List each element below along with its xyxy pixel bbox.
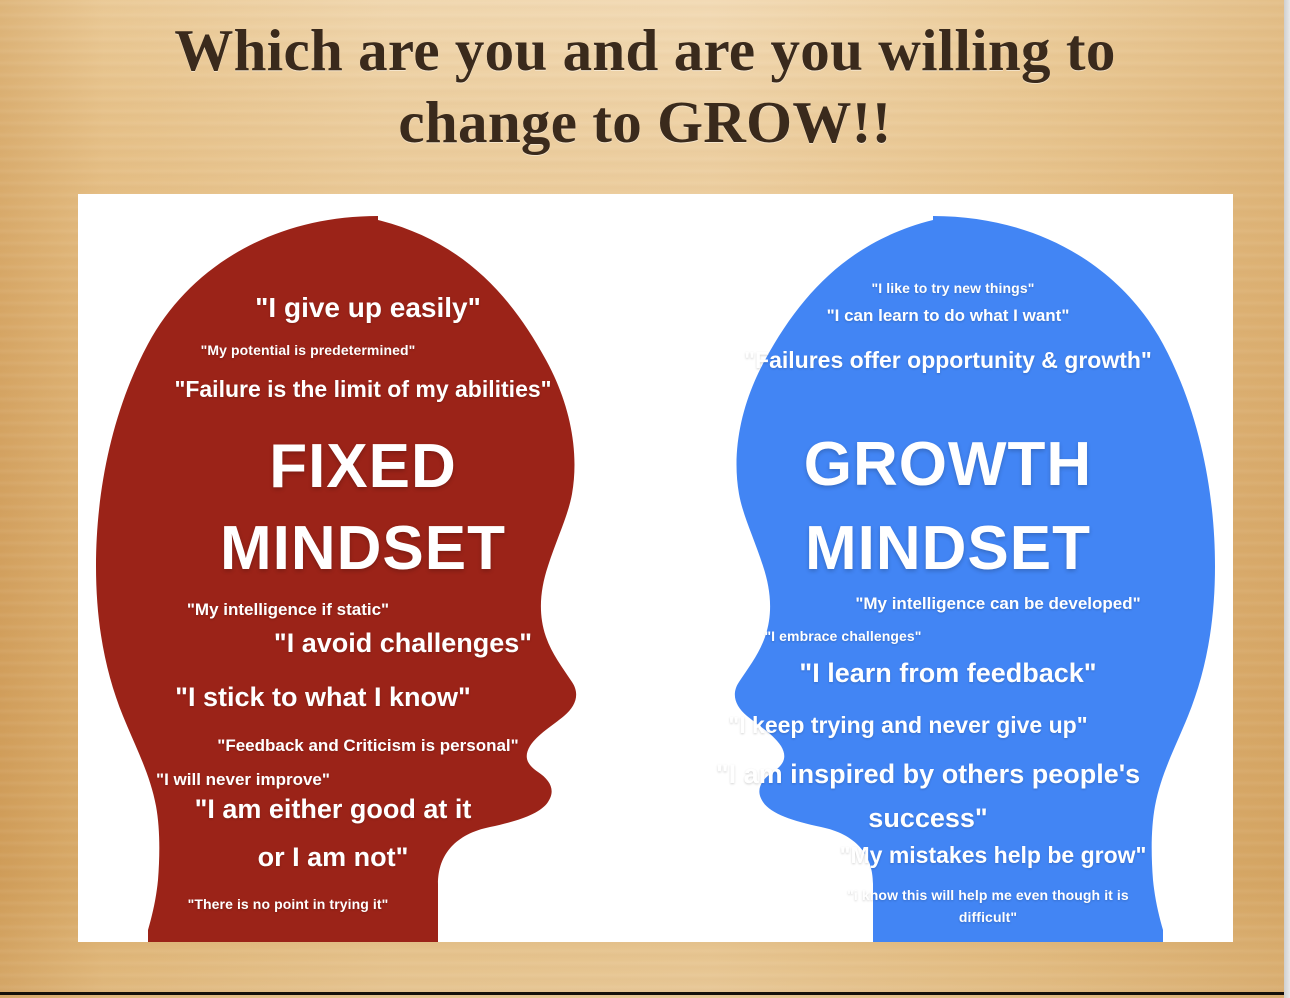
growth-quote-1: "I like to try new things" bbox=[763, 280, 1143, 296]
growth-heading-line-1: GROWTH bbox=[683, 422, 1213, 508]
growth-quote-8: "I am inspired by others people's succes… bbox=[703, 752, 1153, 840]
title-line-1: Which are you and are you willing to bbox=[0, 14, 1290, 86]
growth-heading-line-2: MINDSET bbox=[683, 506, 1213, 592]
fixed-heading-line-2: MINDSET bbox=[98, 506, 628, 592]
growth-quote-3: "Failures offer opportunity & growth" bbox=[703, 342, 1193, 378]
growth-quote-list: "I like to try new things" "I can learn … bbox=[653, 194, 1233, 942]
growth-quote-10: "i know this will help me even though it… bbox=[823, 884, 1153, 928]
growth-quote-5: "I embrace challenges" bbox=[683, 628, 1003, 644]
growth-quote-9: "My mistakes help be grow" bbox=[783, 842, 1203, 869]
growth-quote-7: "I keep trying and never give up" bbox=[683, 712, 1133, 739]
growth-mindset-head: "I like to try new things" "I can learn … bbox=[653, 194, 1233, 942]
fixed-quote-5: "I avoid challenges" bbox=[178, 628, 628, 659]
bottom-border-rule bbox=[0, 992, 1290, 995]
fixed-quote-list: "I give up easily" "My potential is pred… bbox=[78, 194, 658, 942]
fixed-heading-line-1: FIXED bbox=[98, 424, 628, 510]
fixed-quote-7: "Feedback and Criticism is personal" bbox=[128, 736, 608, 756]
growth-quote-6: "I learn from feedback" bbox=[723, 658, 1173, 689]
growth-quote-4: "My intelligence can be developed" bbox=[773, 594, 1223, 614]
fixed-quote-8: "I will never improve" bbox=[78, 770, 408, 790]
fixed-mindset-head: "I give up easily" "My potential is pred… bbox=[78, 194, 658, 942]
mindset-comparison-panel: "I give up easily" "My potential is pred… bbox=[78, 194, 1233, 942]
growth-quote-2: "I can learn to do what I want" bbox=[723, 306, 1173, 326]
slide-canvas: Which are you and are you willing to cha… bbox=[0, 0, 1290, 998]
fixed-quote-1: "I give up easily" bbox=[118, 292, 618, 324]
fixed-quote-4: "My intelligence if static" bbox=[88, 600, 488, 620]
fixed-quote-9: "I am either good at it bbox=[108, 794, 558, 825]
page-title: Which are you and are you willing to cha… bbox=[0, 14, 1290, 158]
fixed-quote-11: "There is no point in trying it" bbox=[88, 896, 488, 912]
fixed-quote-10: or I am not" bbox=[108, 842, 558, 873]
fixed-quote-3: "Failure is the limit of my abilities" bbox=[78, 376, 648, 403]
title-line-2: change to GROW!! bbox=[0, 86, 1290, 158]
fixed-quote-6: "I stick to what I know" bbox=[98, 682, 548, 713]
right-edge-strip bbox=[1284, 0, 1290, 998]
fixed-quote-2: "My potential is predetermined" bbox=[88, 342, 528, 358]
